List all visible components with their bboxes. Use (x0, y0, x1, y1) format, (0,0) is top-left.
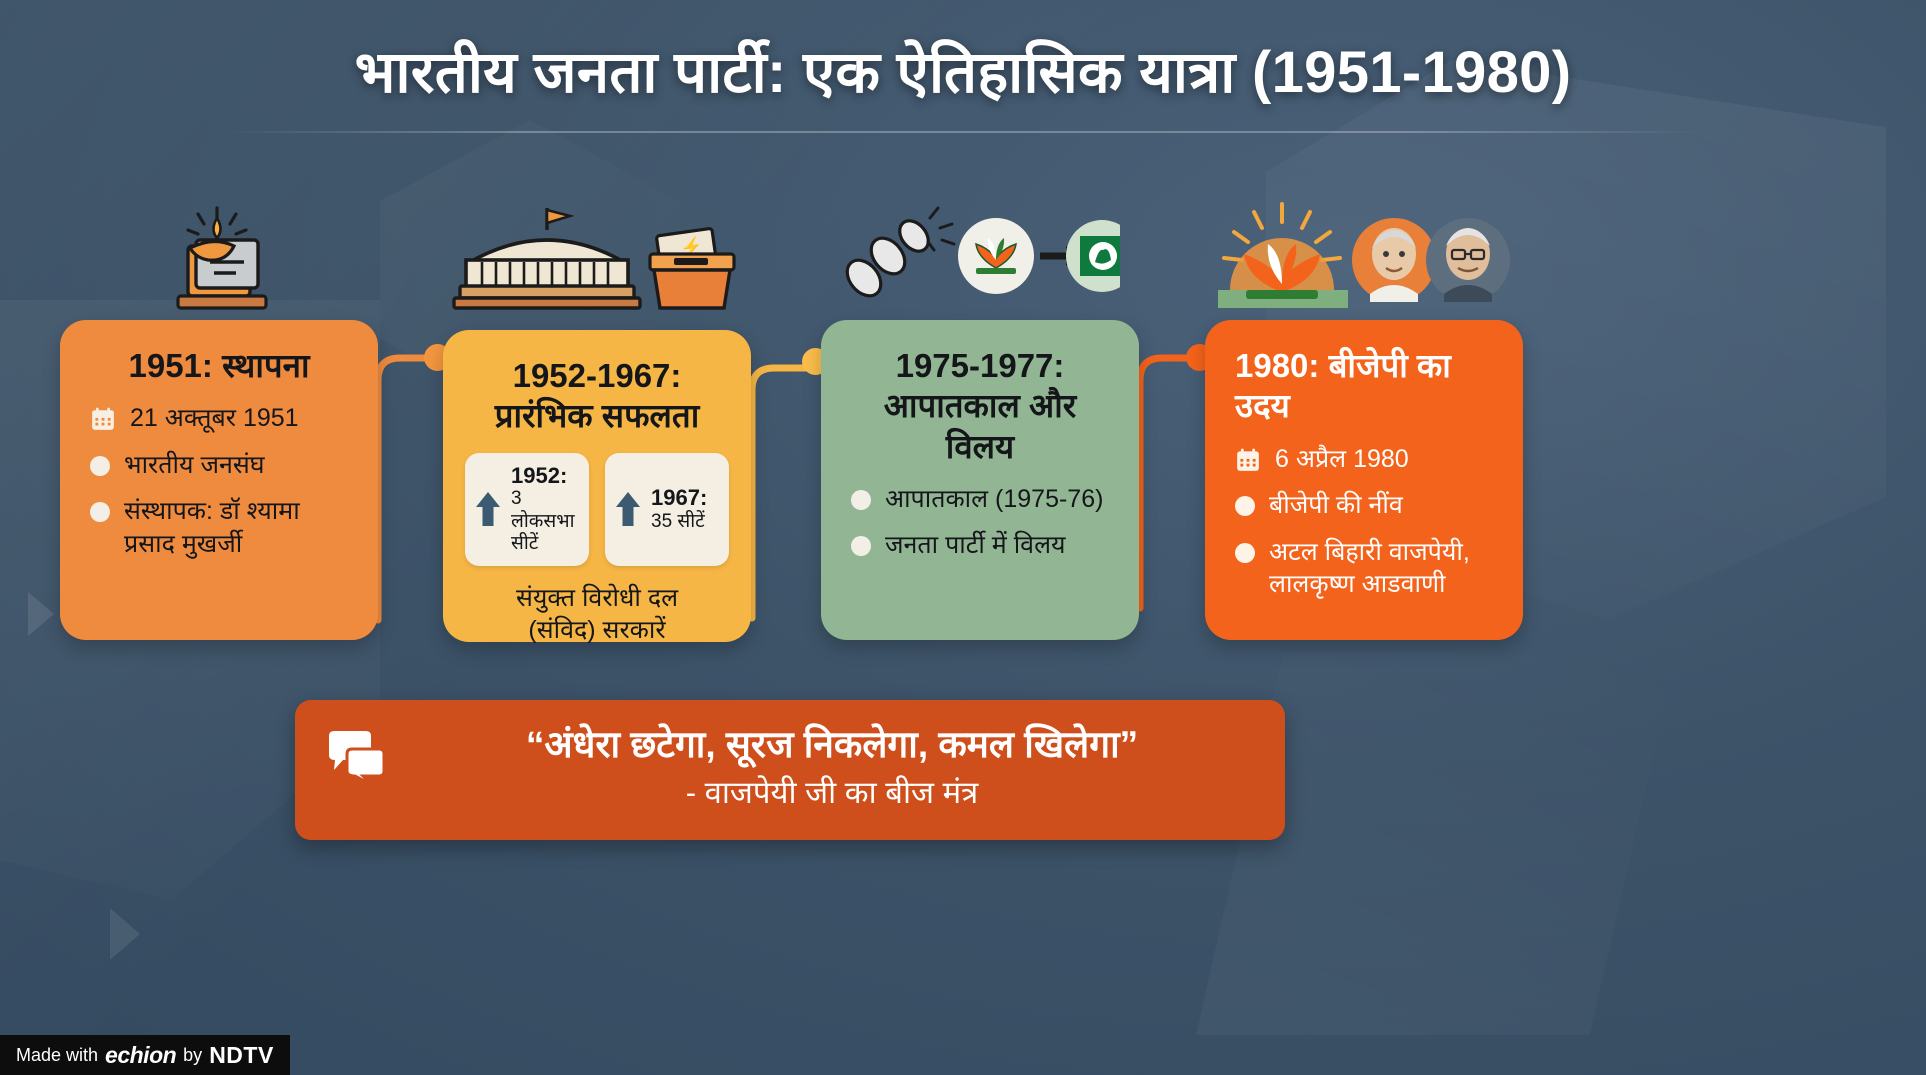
timeline: ⚡ (0, 0, 1926, 1075)
stat-year: 1967: (651, 485, 707, 511)
bullet-dot-icon (851, 536, 871, 556)
list-item-label: 21 अक्तूबर 1951 (130, 402, 348, 435)
stat-chip-group: 1952: 3 लोकसभा सीटें 1967: 35 सीटें (473, 453, 721, 566)
stat-chip-1967: 1967: 35 सीटें (605, 453, 729, 566)
ballot-box-icon: ⚡ (650, 228, 734, 308)
calendar-icon (90, 406, 116, 432)
parliament-building-ballot-box-icon: ⚡ (452, 200, 742, 320)
card-bullet-list: 21 अक्तूबर 1951 भारतीय जनसंघ संस्थापक: ड… (90, 402, 348, 560)
stat-chip-1952: 1952: 3 लोकसभा सीटें (465, 453, 589, 566)
bullet-dot-icon (1235, 496, 1255, 516)
timeline-card-1975-1977[interactable]: 1975-1977:आपातकाल और विलय आपातकाल (1975-… (821, 320, 1139, 640)
quote-text: “अंधेरा छटेगा, सूरज निकलेगा, कमल खिलेगा” (409, 722, 1255, 768)
chain-break-sparks-icon (928, 208, 954, 250)
broken-chain-bjp-to-janata-icon (830, 198, 1120, 320)
timeline-card-1952-1967[interactable]: 1952-1967:प्रारंभिक सफलता 1952: 3 लोकसभा… (443, 330, 751, 642)
list-item: अटल बिहारी वाजपेयी, लालकृष्ण आडवाणी (1235, 536, 1493, 601)
bullet-dot-icon (851, 490, 871, 510)
up-arrow-icon (615, 490, 641, 528)
list-item: भारतीय जनसंघ (90, 449, 348, 482)
parliament-icon (454, 208, 640, 308)
diya-lamp-laptop-icon (152, 200, 282, 320)
bullet-dot-icon (1235, 543, 1255, 563)
watermark-publisher: NDTV (209, 1042, 274, 1069)
calendar-icon (1235, 447, 1261, 473)
broken-chain-icon (840, 215, 934, 302)
card-title: 1951: स्थापना (90, 346, 348, 386)
list-item: जनता पार्टी में विलय (851, 529, 1109, 562)
card-title: 1952-1967:प्रारंभिक सफलता (473, 356, 721, 437)
card-title: 1980: बीजेपी का उदय (1235, 346, 1493, 427)
list-item: संस्थापक: डॉ श्यामा प्रसाद मुखर्जी (90, 495, 348, 560)
list-item-label: अटल बिहारी वाजपेयी, लालकृष्ण आडवाणी (1269, 536, 1493, 601)
quote-banner: “अंधेरा छटेगा, सूरज निकलेगा, कमल खिलेगा”… (295, 700, 1285, 840)
stat-detail: 35 सीटें (651, 511, 705, 532)
list-item-label: भारतीय जनसंघ (124, 449, 348, 482)
list-item-label: संस्थापक: डॉ श्यामा प्रसाद मुखर्जी (124, 495, 348, 560)
watermark-made-with: Made with (16, 1045, 98, 1066)
stat-detail: 3 लोकसभा सीटें (511, 488, 575, 554)
bullet-dot-icon (90, 456, 110, 476)
list-item-label: जनता पार्टी में विलय (885, 529, 1109, 562)
list-item-label: 6 अप्रैल 1980 (1275, 443, 1493, 476)
stat-year: 1952: (511, 463, 575, 489)
card-bullet-list: आपातकाल (1975-76) जनता पार्टी में विलय (851, 483, 1109, 562)
timeline-card-1980[interactable]: 1980: बीजेपी का उदय 6 अप्रैल 1980 (1205, 320, 1523, 640)
list-item: आपातकाल (1975-76) (851, 483, 1109, 516)
card-note: संयुक्त विरोधी दल(संविद) सरकारें (473, 582, 721, 647)
list-item: 6 अप्रैल 1980 (1235, 443, 1493, 476)
quote-attribution: - वाजपेयी जी का बीज मंत्र (409, 772, 1255, 814)
bjp-logo-badge (958, 218, 1034, 294)
infographic-canvas: भारतीय जनता पार्टी: एक ऐतिहासिक यात्रा (… (0, 0, 1926, 1075)
lotus-sunrise-leaders-icon (1210, 198, 1520, 320)
list-item: बीजेपी की नींव (1235, 489, 1493, 522)
watermark-by: by (183, 1045, 202, 1066)
list-item-label: आपातकाल (1975-76) (885, 483, 1109, 516)
card-bullet-list: 6 अप्रैल 1980 बीजेपी की नींव अटल बिहारी … (1235, 443, 1493, 601)
watermark-footer: Made with echion by NDTV (0, 1035, 290, 1075)
up-arrow-icon (475, 490, 501, 528)
bullet-dot-icon (90, 502, 110, 522)
timeline-card-1951[interactable]: 1951: स्थापना 21 अक्तूबर 1951 (60, 320, 378, 640)
list-item-label: बीजेपी की नींव (1269, 489, 1493, 522)
list-item: 21 अक्तूबर 1951 (90, 402, 348, 435)
card-title: 1975-1977:आपातकाल और विलय (851, 346, 1109, 467)
speech-bubble-icon (325, 730, 387, 786)
watermark-brand: echion (105, 1042, 176, 1069)
